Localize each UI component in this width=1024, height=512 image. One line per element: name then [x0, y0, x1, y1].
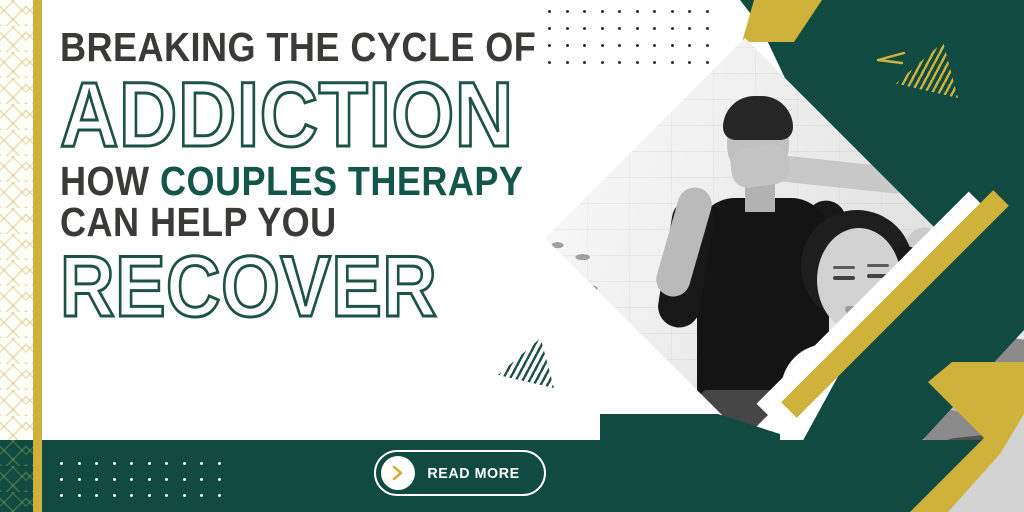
- dot: [618, 27, 621, 30]
- dot: [583, 10, 586, 13]
- chevron-pattern-strip: [0, 0, 33, 512]
- dot: [218, 494, 221, 497]
- dot: [78, 478, 81, 481]
- dot: [636, 27, 639, 30]
- dot: [566, 10, 569, 13]
- dot: [183, 462, 186, 465]
- dot: [601, 10, 604, 13]
- headline-word-recover: RECOVER: [60, 246, 500, 329]
- dot: [583, 61, 586, 64]
- chevron-pattern-strip-dark: [0, 440, 33, 512]
- dot: [583, 27, 586, 30]
- dot: [113, 462, 116, 465]
- dot-grid-top: [548, 10, 708, 70]
- dot: [566, 27, 569, 30]
- dot: [200, 462, 203, 465]
- dot: [130, 494, 133, 497]
- dot: [601, 44, 604, 47]
- dot: [618, 44, 621, 47]
- dot: [566, 44, 569, 47]
- dot: [78, 494, 81, 497]
- dot: [78, 462, 81, 465]
- dot: [618, 61, 621, 64]
- dot: [671, 10, 674, 13]
- dot: [165, 494, 168, 497]
- headline-word-addiction: ADDICTION: [60, 71, 500, 159]
- dot: [218, 462, 221, 465]
- promo-banner: BREAKING THE CYCLE OF ADDICTION HOW COUP…: [0, 0, 1024, 512]
- dot-grid-bottom: [60, 462, 220, 504]
- dot: [113, 494, 116, 497]
- dot: [653, 10, 656, 13]
- dot: [60, 494, 63, 497]
- dot: [706, 44, 709, 47]
- dot: [148, 478, 151, 481]
- dot: [218, 478, 221, 481]
- dot: [183, 494, 186, 497]
- dot: [601, 27, 604, 30]
- dot: [671, 61, 674, 64]
- dot: [566, 61, 569, 64]
- dot: [130, 478, 133, 481]
- dot: [548, 10, 551, 13]
- dot: [60, 462, 63, 465]
- headline-block: BREAKING THE CYCLE OF ADDICTION HOW COUP…: [60, 28, 560, 329]
- read-more-button[interactable]: READ MORE: [374, 450, 546, 496]
- dot: [636, 44, 639, 47]
- dot: [618, 10, 621, 13]
- dot: [688, 27, 691, 30]
- chevron-right-icon: [381, 456, 415, 490]
- gold-accent-bar: [33, 0, 42, 512]
- dot: [130, 462, 133, 465]
- dot: [636, 61, 639, 64]
- dot: [148, 494, 151, 497]
- dot: [95, 478, 98, 481]
- dot: [148, 462, 151, 465]
- headline-line-1: BREAKING THE CYCLE OF: [60, 28, 500, 67]
- dot: [706, 27, 709, 30]
- dot: [653, 27, 656, 30]
- dot: [95, 494, 98, 497]
- headline-line-3-highlight: COUPLES THERAPY: [160, 158, 523, 204]
- gold-chevron-corner: [874, 362, 1024, 512]
- dot: [113, 478, 116, 481]
- headline-line-3: HOW COUPLES THERAPY: [60, 162, 500, 201]
- dot: [165, 478, 168, 481]
- gold-arrow-mark: [876, 50, 906, 68]
- dot: [706, 61, 709, 64]
- dot: [671, 44, 674, 47]
- dot: [688, 44, 691, 47]
- dot: [688, 10, 691, 13]
- dot: [200, 494, 203, 497]
- dot: [583, 44, 586, 47]
- dot: [636, 10, 639, 13]
- read-more-label: READ MORE: [427, 465, 519, 482]
- dot: [183, 478, 186, 481]
- dot: [653, 44, 656, 47]
- dot: [671, 27, 674, 30]
- dot: [165, 462, 168, 465]
- dot: [688, 61, 691, 64]
- dot: [653, 61, 656, 64]
- dot: [200, 478, 203, 481]
- headline-line-4: CAN HELP YOU: [60, 203, 500, 242]
- dot: [95, 462, 98, 465]
- headline-line-3-prefix: HOW: [60, 158, 160, 204]
- green-striped-triangle: [498, 338, 554, 388]
- dot: [706, 10, 709, 13]
- dot: [601, 61, 604, 64]
- dot: [60, 478, 63, 481]
